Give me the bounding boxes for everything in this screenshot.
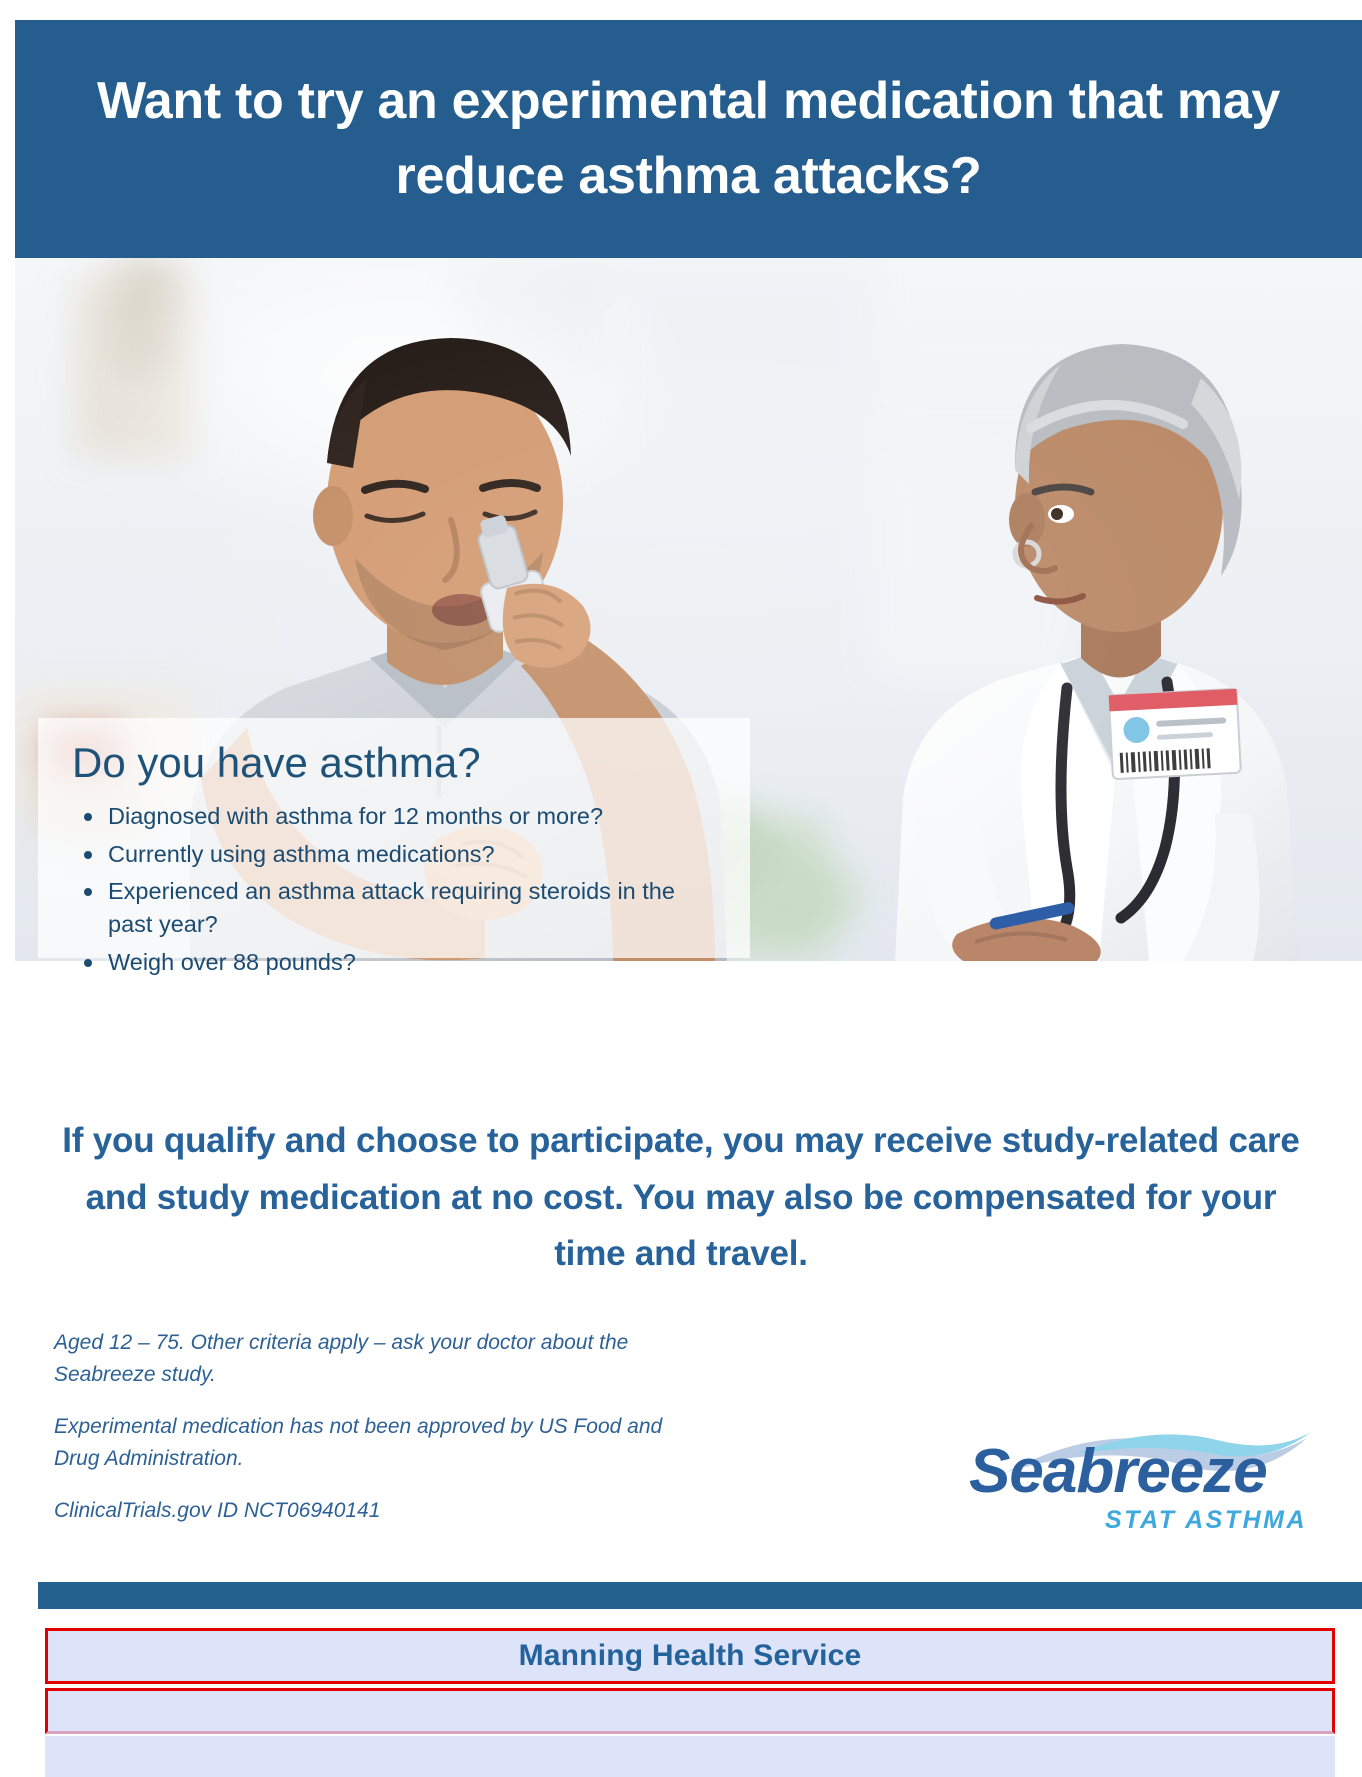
bottom-accent-bar [38,1582,1362,1609]
eligibility-bullet-text: Weigh over 88 pounds? [108,949,356,975]
bullet-dot-icon [84,851,92,859]
site-extra-field[interactable] [45,1736,1335,1777]
bullet-dot-icon [84,813,92,821]
fineprint-eligibility-note: Aged 12 – 75. Other criteria apply – ask… [54,1327,674,1391]
fineprint-fda-note: Experimental medication has not been app… [54,1411,674,1475]
list-item: Currently using asthma medications? [72,838,716,871]
eligibility-bullet-text: Diagnosed with asthma for 12 months or m… [108,803,603,829]
fineprint-block: Aged 12 – 75. Other criteria apply – ask… [54,1327,674,1527]
benefit-paragraph: If you qualify and choose to participate… [60,1113,1302,1283]
eligibility-bullet-text: Experienced an asthma attack requiring s… [108,878,675,937]
fineprint-trial-id: ClinicalTrials.gov ID NCT06940141 [54,1495,674,1527]
eligibility-heading: Do you have asthma? [72,740,716,786]
list-item: Weigh over 88 pounds? [72,946,716,979]
site-contact-field[interactable] [45,1688,1335,1734]
site-name-text: Manning Health Service [519,1639,862,1673]
eligibility-card: Do you have asthma? Diagnosed with asthm… [38,718,750,958]
list-item: Diagnosed with asthma for 12 months or m… [72,800,716,833]
bullet-dot-icon [84,959,92,967]
eligibility-bullet-text: Currently using asthma medications? [108,841,495,867]
page-title: Want to try an experimental medication t… [75,64,1302,215]
seabreeze-logo: Seabreeze STAT ASTHMA [955,1410,1315,1540]
list-item: Experienced an asthma attack requiring s… [72,875,716,942]
header-banner: Want to try an experimental medication t… [15,20,1362,258]
site-name-field[interactable]: Manning Health Service [45,1628,1335,1684]
logo-wordmark: Seabreeze [969,1437,1267,1506]
bullet-dot-icon [84,888,92,896]
eligibility-bullet-list: Diagnosed with asthma for 12 months or m… [72,800,716,979]
logo-tagline: STAT ASTHMA [1105,1506,1307,1534]
